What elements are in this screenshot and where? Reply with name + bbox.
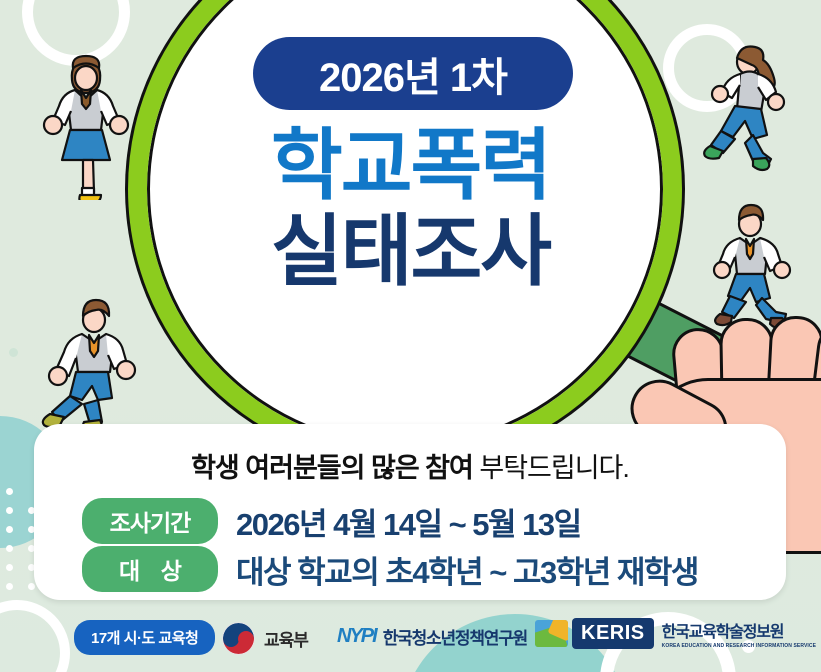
survey-period-label: 조사기간 (82, 498, 218, 544)
title-line-1: 학교폭력 (0, 126, 821, 206)
survey-banner: 2026년 1차 학교폭력 실태조사 학생 여러분들의 많은 참여 부탁드립니다… (0, 0, 821, 672)
edition-badge: 2026년 1차 (253, 37, 573, 110)
survey-period-row: 조사기간 2026년 4월 14일 ~ 5월 13일 (82, 498, 581, 544)
education-offices-badge: 17개 시·도 교육청 (74, 620, 215, 655)
title-line-2: 실태조사 (0, 212, 821, 292)
keris-mark-icon (535, 620, 568, 647)
request-part-1: 학생 여러분들의 (191, 453, 371, 483)
survey-target-label: 대 상 (82, 546, 218, 592)
nypi-mark-icon: NYPI (337, 625, 376, 648)
taegeuk-icon (222, 622, 255, 655)
nypi-label: 한국청소년정책연구원 (383, 624, 527, 649)
survey-target-row: 대 상 대상 학교의 초4학년 ~ 고3학년 재학생 (82, 546, 698, 592)
survey-target-value: 대상 학교의 초4학년 ~ 고3학년 재학생 (236, 547, 698, 592)
keris-label-kr: 한국교육학술정보원 (662, 618, 816, 642)
dot-decor-3 (9, 348, 18, 357)
request-part-2: 많은 참여 (371, 453, 473, 483)
nypi-logo: NYPI 한국청소년정책연구원 (337, 624, 527, 649)
moe-label: 교육부 (264, 626, 308, 651)
request-part-3: 부탁드립니다. (473, 453, 629, 483)
keris-logo: KERIS 한국교육학술정보원 KOREA EDUCATION AND RESE… (535, 618, 816, 649)
info-card: 학생 여러분들의 많은 참여 부탁드립니다. 조사기간 2026년 4월 14일… (34, 424, 786, 600)
page-title: 학교폭력 실태조사 (0, 126, 821, 291)
keris-wordmark: KERIS (572, 618, 654, 649)
keris-label-en: KOREA EDUCATION AND RESEARCH INFORMATION… (662, 643, 816, 649)
participation-request: 학생 여러분들의 많은 참여 부탁드립니다. (34, 446, 786, 485)
moe-logo: 교육부 (222, 622, 308, 655)
keris-name-block: 한국교육학술정보원 KOREA EDUCATION AND RESEARCH I… (662, 618, 816, 649)
survey-period-value: 2026년 4월 14일 ~ 5월 13일 (236, 499, 581, 544)
